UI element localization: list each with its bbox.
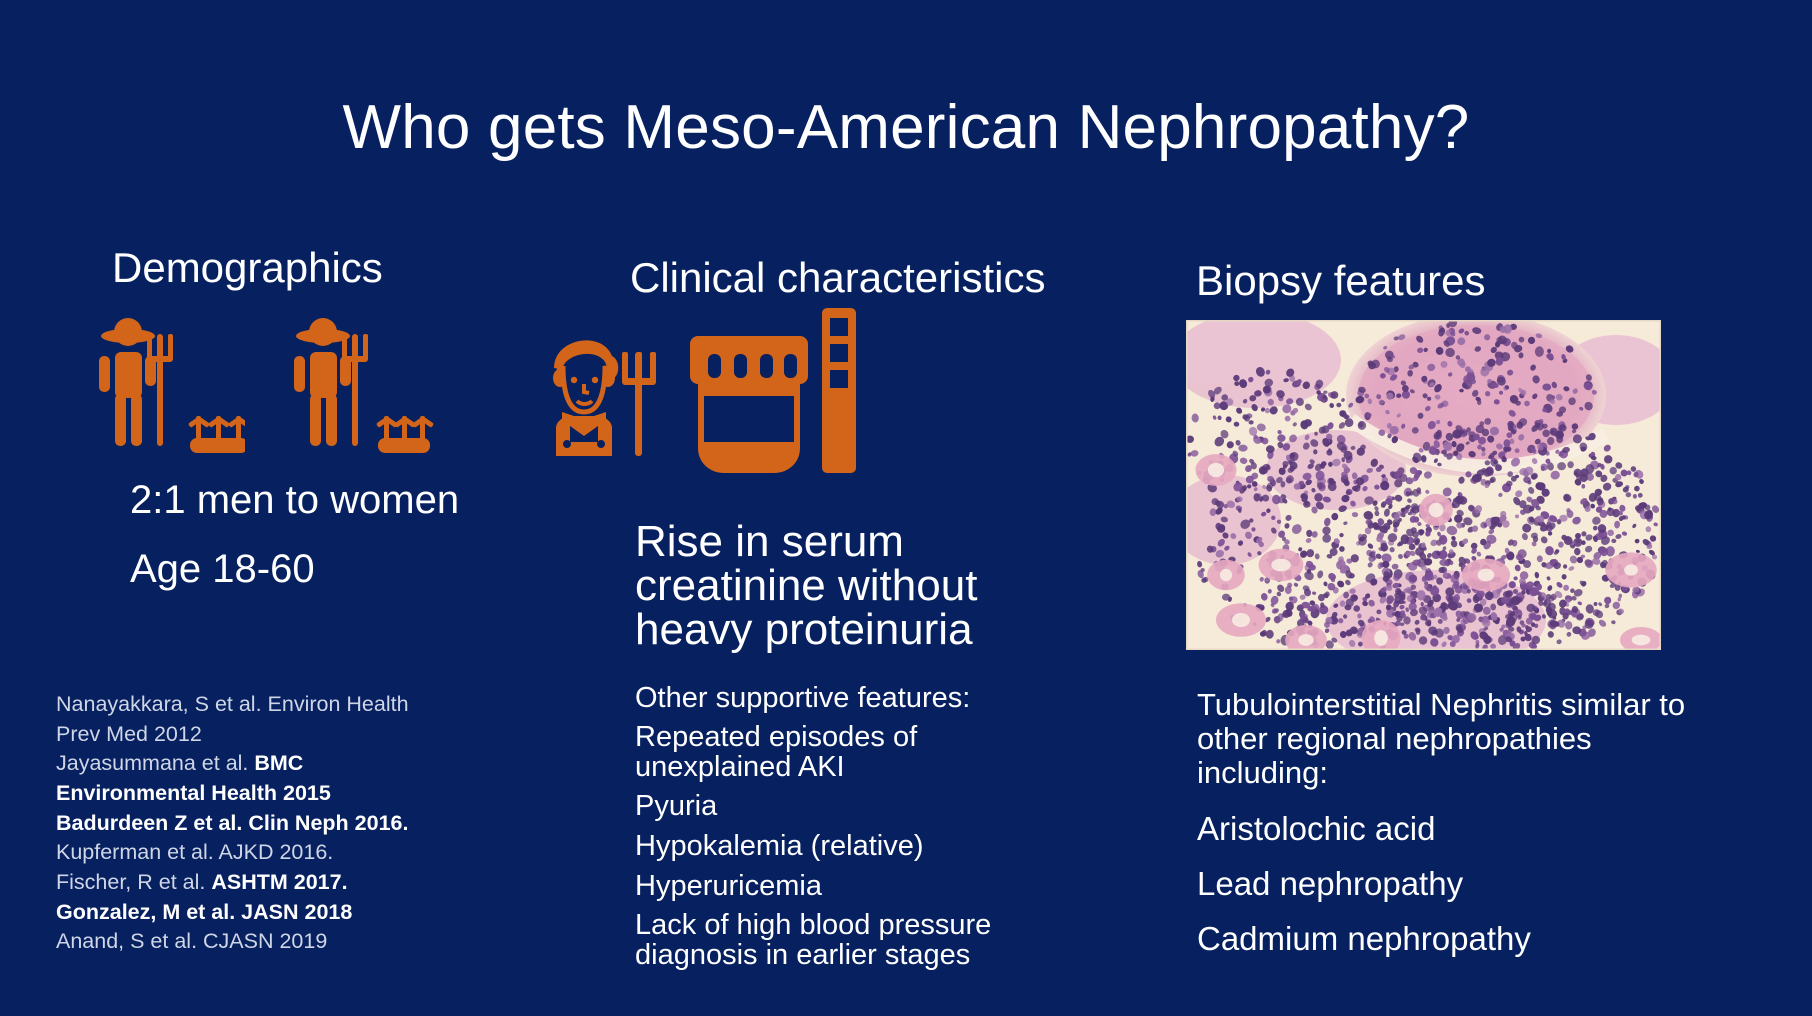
biopsy-lead-text: Tubulointerstitial Nephritis similar to … — [1197, 688, 1717, 790]
clinical-main-feature: Rise in serum creatinine without heavy p… — [635, 520, 1105, 652]
demographics-fact-age: Age 18-60 — [130, 546, 315, 592]
biopsy-condition: Cadmium nephropathy — [1197, 922, 1717, 957]
reference-line: Prev Med 2012 — [56, 720, 476, 750]
reference-text: Prev Med 2012 — [56, 722, 202, 746]
biopsy-condition: Aristolochic acid — [1197, 812, 1717, 847]
demographics-fact-ratio: 2:1 men to women — [130, 477, 459, 523]
slide: Who gets Meso-American Nephropathy? Demo… — [0, 0, 1812, 1016]
reference-line: Nanayakkara, S et al. Environ Health — [56, 690, 476, 720]
reference-text: Kupferman et al. AJKD 2016. — [56, 840, 333, 864]
reference-text-emphasis: ASHTM 2017. — [211, 870, 347, 894]
reference-line: Environmental Health 2015 — [56, 779, 476, 809]
female-farmer-icon — [540, 316, 665, 466]
reference-line: Gonzalez, M et al. JASN 2018 — [56, 898, 476, 928]
slide-title: Who gets Meso-American Nephropathy? — [0, 95, 1812, 160]
reference-text: Anand, S et al. CJASN 2019 — [56, 929, 327, 953]
farmer-with-pitchfork-icon — [290, 316, 440, 466]
reference-text: Jayasummana et al. — [56, 751, 254, 775]
reference-text-emphasis: Gonzalez, M et al. JASN 2018 — [56, 900, 352, 924]
reference-line: Kupferman et al. AJKD 2016. — [56, 838, 476, 868]
supportive-item: Repeated episodes of unexplained AKI — [635, 723, 1065, 783]
reference-line: Badurdeen Z et al. Clin Neph 2016. — [56, 809, 476, 839]
supportive-item: Lack of high blood pressure diagnosis in… — [635, 911, 1065, 971]
biopsy-micrograph-image — [1186, 320, 1661, 650]
supportive-item: Hypokalemia (relative) — [635, 831, 1065, 862]
farmer-with-pitchfork-icon — [95, 316, 245, 466]
reference-text-emphasis: Environmental Health 2015 — [56, 781, 331, 805]
biopsy-condition: Lead nephropathy — [1197, 867, 1717, 902]
column-heading-biopsy: Biopsy features — [1196, 258, 1486, 304]
column-heading-demographics: Demographics — [112, 245, 383, 291]
supportive-features-label: Other supportive features: — [635, 683, 1065, 714]
reference-list: Nanayakkara, S et al. Environ HealthPrev… — [56, 690, 476, 957]
reference-text: Fischer, R et al. — [56, 870, 211, 894]
reference-line: Jayasummana et al. BMC — [56, 749, 476, 779]
reference-text-emphasis: Badurdeen Z et al. Clin Neph 2016. — [56, 811, 408, 835]
column-heading-clinical: Clinical characteristics — [630, 255, 1045, 301]
urine-sample-cup-and-dipstick-icon — [690, 308, 860, 483]
supportive-item: Pyuria — [635, 791, 1065, 822]
clinical-supportive-features: Other supportive features: Repeated epis… — [635, 683, 1065, 979]
reference-text: Nanayakkara, S et al. Environ Health — [56, 692, 409, 716]
reference-line: Fischer, R et al. ASHTM 2017. — [56, 868, 476, 898]
reference-text-emphasis: BMC — [254, 751, 303, 775]
reference-line: Anand, S et al. CJASN 2019 — [56, 927, 476, 957]
biopsy-description: Tubulointerstitial Nephritis similar to … — [1197, 688, 1717, 976]
demographics-icon-group — [95, 316, 585, 466]
supportive-item: Hyperuricemia — [635, 871, 1065, 902]
